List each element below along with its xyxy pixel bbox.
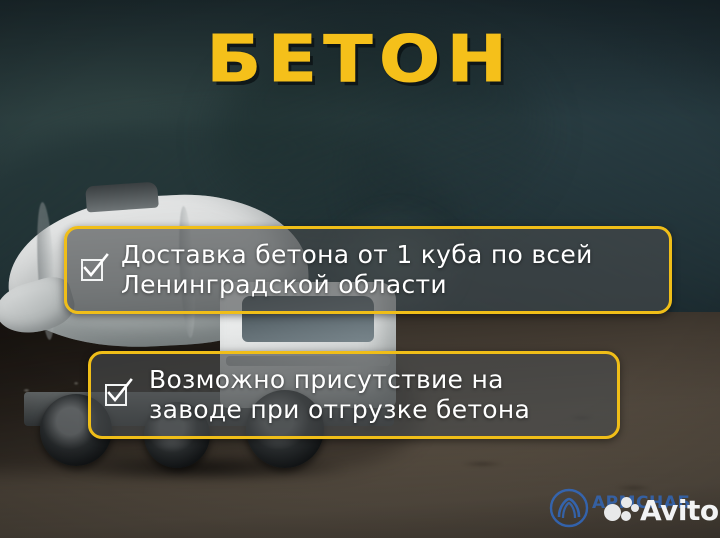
feature-text: Доставка бетона от 1 куба по всей Ленинг… xyxy=(121,240,593,301)
company-monogram-icon xyxy=(548,488,590,528)
avito-dots-icon xyxy=(604,496,638,526)
feature-line-1: Доставка бетона от 1 куба по всей xyxy=(121,240,593,269)
feature-text: Возможно присутствие на заводе при отгру… xyxy=(149,365,530,426)
poster-root: БЕТОН Доставка бетона от 1 куба по всей … xyxy=(0,0,720,538)
avito-logo-text: Avito xyxy=(640,497,719,525)
feature-line-2: заводе при отгрузке бетона xyxy=(149,395,530,424)
feature-line-2: Ленинградской области xyxy=(121,270,447,299)
feature-line-1: Возможно присутствие на xyxy=(149,365,504,394)
feature-box-plant-visit: Возможно присутствие на заводе при отгру… xyxy=(88,351,620,439)
feature-box-delivery: Доставка бетона от 1 куба по всей Ленинг… xyxy=(64,226,672,314)
page-title: БЕТОН xyxy=(0,28,720,92)
avito-logo: Avito xyxy=(604,494,719,528)
checked-checkbox-icon xyxy=(105,382,131,408)
checked-checkbox-icon xyxy=(81,257,107,283)
